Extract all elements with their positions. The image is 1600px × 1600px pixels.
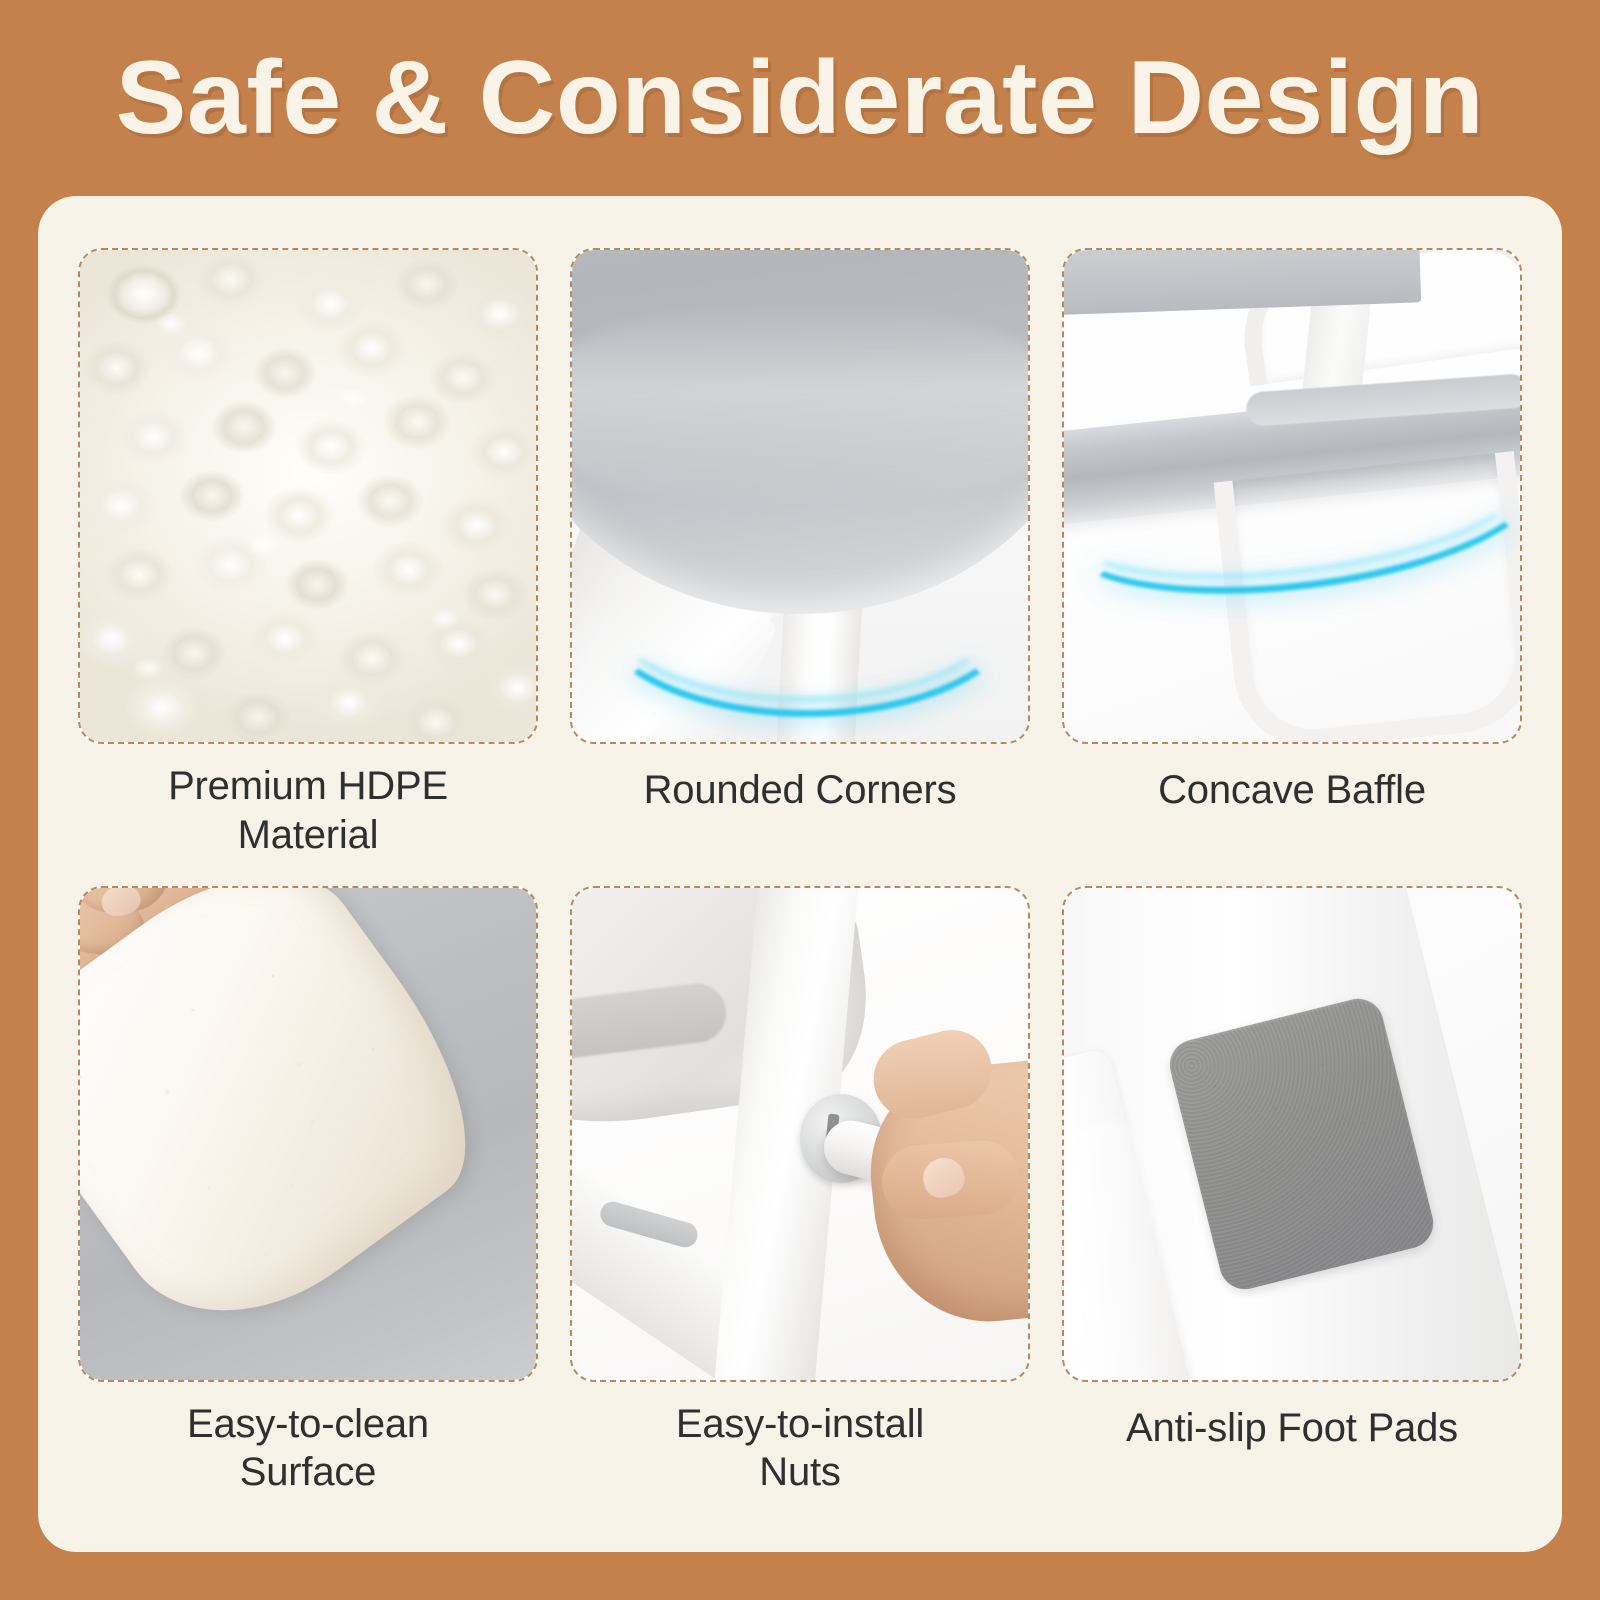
- corner-highlight-arc: [590, 496, 1024, 717]
- feature-image-rounded-corners: [570, 248, 1030, 744]
- easy-install-photo: [572, 888, 1028, 1380]
- caption-line-2: Nuts: [676, 1448, 924, 1497]
- feature-caption-easy-to-clean-surface: Easy-to-clean Surface: [187, 1400, 429, 1498]
- caption-line-1: Premium HDPE: [168, 762, 448, 811]
- easy-clean-photo: [80, 888, 536, 1380]
- feature-image-easy-to-install-nuts: [570, 886, 1030, 1382]
- feature-cell-easy-to-clean-surface: Easy-to-clean Surface: [78, 886, 538, 1524]
- feature-grid: Premium HDPE Material: [78, 248, 1522, 1523]
- feature-caption-anti-slip-foot-pads: Anti-slip Foot Pads: [1126, 1404, 1458, 1454]
- feature-card: Premium HDPE Material: [38, 196, 1562, 1552]
- feature-caption-concave-baffle: Concave Baffle: [1158, 766, 1426, 816]
- feature-caption-premium-hdpe-material: Premium HDPE Material: [168, 762, 448, 860]
- feature-image-premium-hdpe-material: [78, 248, 538, 744]
- feature-cell-anti-slip-foot-pads: Anti-slip Foot Pads: [1062, 886, 1522, 1524]
- page-banner: Safe & Considerate Design: [0, 0, 1600, 196]
- concave-baffle-photo: [1064, 250, 1520, 742]
- feature-cell-easy-to-install-nuts: Easy-to-install Nuts: [570, 886, 1030, 1524]
- seat-crease: [572, 302, 1028, 510]
- anti-slip-photo: [1064, 888, 1520, 1380]
- caption-line-2: Surface: [187, 1448, 429, 1497]
- feature-cell-premium-hdpe-material: Premium HDPE Material: [78, 248, 538, 886]
- feature-image-easy-to-clean-surface: [78, 886, 538, 1382]
- feature-cell-rounded-corners: Rounded Corners: [570, 248, 1030, 886]
- feature-caption-easy-to-install-nuts: Easy-to-install Nuts: [676, 1400, 924, 1498]
- caption-line-2: Material: [168, 811, 448, 860]
- hdpe-pellets-photo: [80, 250, 536, 742]
- feature-image-concave-baffle: [1062, 248, 1522, 744]
- rounded-corner-photo: [572, 250, 1028, 742]
- feature-caption-rounded-corners: Rounded Corners: [644, 766, 957, 816]
- feature-cell-concave-baffle: Concave Baffle: [1062, 248, 1522, 886]
- caption-line-1: Concave Baffle: [1158, 766, 1426, 815]
- feature-image-anti-slip-foot-pads: [1062, 886, 1522, 1382]
- caption-line-1: Rounded Corners: [644, 766, 957, 815]
- pellet-texture: [80, 250, 536, 742]
- page-title: Safe & Considerate Design: [116, 46, 1485, 150]
- caption-line-1: Easy-to-install: [676, 1400, 924, 1449]
- caption-line-1: Easy-to-clean: [187, 1400, 429, 1449]
- caption-line-1: Anti-slip Foot Pads: [1126, 1404, 1458, 1453]
